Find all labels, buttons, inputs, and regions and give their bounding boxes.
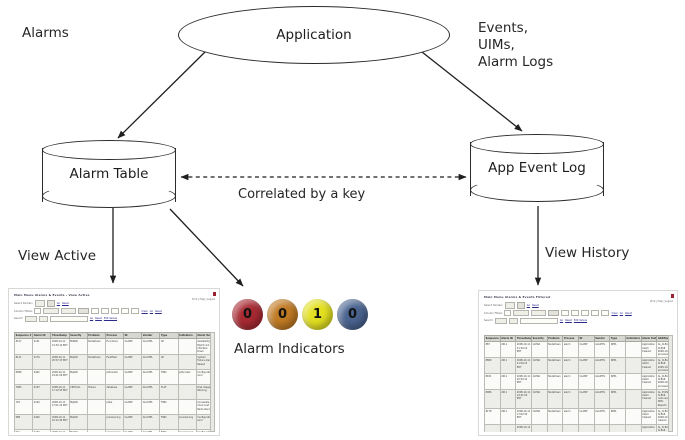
alarm-indicator-count: 0 xyxy=(278,307,287,322)
alarm-indicator-count: 0 xyxy=(348,307,357,322)
table-cell: AP xyxy=(160,339,178,355)
table-cell xyxy=(563,424,579,432)
filter-row[interactable]: SearchGoResetEdit Values xyxy=(484,318,673,323)
table-cell xyxy=(87,400,105,415)
table-cell: MINOR xyxy=(69,339,87,355)
table-cell: 7985 xyxy=(15,385,33,400)
table-cell: Application Alarm Cleared xyxy=(641,342,657,358)
screenshot-view-history[interactable]: Main Menu Alarms & Events Filtered Print… xyxy=(478,290,678,436)
table-cell: NodeDown xyxy=(547,389,563,408)
table-cell: 2008-10-11 20:52:41 EDT xyxy=(516,374,532,390)
filter-link[interactable]: Reset xyxy=(565,319,572,322)
label-view-history: View History xyxy=(545,245,629,262)
table-cell: provisioning xyxy=(105,415,123,430)
table-cell: 2008-10-11 21:09:15 EDT xyxy=(516,358,532,374)
filter-button[interactable] xyxy=(47,300,55,306)
table-cell xyxy=(625,358,641,374)
table-scrollbar[interactable] xyxy=(668,335,673,432)
table-cell: CLAMP xyxy=(578,358,594,374)
filter-input[interactable] xyxy=(520,318,558,324)
table-cell: FaultTask xyxy=(105,355,123,370)
table-cell: 8178 xyxy=(485,408,501,424)
node-app-event-log-label: App Event Log xyxy=(470,160,604,176)
filter-button[interactable] xyxy=(78,308,89,314)
thumb-data-table[interactable]: Sequence #Alarm IDTimestampSeverityProbl… xyxy=(14,332,215,432)
table-cell: ALCATEL xyxy=(594,374,610,390)
table-cell: ALCATEL xyxy=(142,430,160,432)
filter-input[interactable] xyxy=(25,316,37,322)
table-cell: REPL xyxy=(610,342,626,358)
table-cell: 8086 xyxy=(485,389,501,408)
table-cell: 4140 xyxy=(33,400,51,415)
filter-input[interactable] xyxy=(504,310,511,316)
table-cell: alarm xyxy=(563,389,579,408)
table-cell: provisioning xyxy=(178,415,196,430)
table-row[interactable]: 811141792008-10-11 20:57:23 EDTMAJORNode… xyxy=(15,355,215,370)
table-cell: FunctionA xyxy=(105,339,123,355)
cylinder-bottom xyxy=(42,184,176,208)
table-cell: ALCATEL xyxy=(142,415,160,430)
thumb-table-wrap[interactable]: Sequence #Alarm IDTimestampSeverityProbl… xyxy=(484,335,673,432)
filter-link[interactable]: Go xyxy=(150,310,153,313)
table-cell: CLAMP xyxy=(124,430,142,432)
filter-link[interactable]: Reset xyxy=(532,304,539,307)
table-cell: ALCATEL xyxy=(142,339,160,355)
filter-input[interactable] xyxy=(571,310,579,316)
table-cell: 588 xyxy=(15,415,33,430)
table-cell: CLAMP xyxy=(578,389,594,408)
table-cell xyxy=(625,408,641,424)
filter-input[interactable] xyxy=(495,318,507,324)
table-cell: 2011 xyxy=(500,374,516,390)
table-cell xyxy=(178,355,196,370)
filter-input[interactable] xyxy=(591,310,599,316)
table-cell: 4440 xyxy=(33,430,51,432)
table-cell: FIND xyxy=(160,400,178,415)
filter-label: Select Domain xyxy=(484,304,503,307)
table-cell: alarm xyxy=(563,408,579,424)
filter-input[interactable] xyxy=(34,308,41,314)
table-cell xyxy=(500,424,516,432)
table-cell: CLEAR xyxy=(531,358,547,374)
table-cell: NodeDown xyxy=(547,408,563,424)
filter-input[interactable] xyxy=(581,310,589,316)
table-cell: Failure xyxy=(87,385,105,400)
table-cell xyxy=(178,339,196,355)
filter-input[interactable] xyxy=(61,308,76,314)
filter-label: Search xyxy=(484,319,493,322)
table-cell: 2011 xyxy=(500,342,516,358)
filter-link[interactable]: Edit Values xyxy=(574,319,587,322)
table-cell: pdbrouter xyxy=(178,370,196,385)
table-cell: alarm xyxy=(563,358,579,374)
table-cell: 8880 xyxy=(485,358,501,374)
filter-button[interactable] xyxy=(548,310,559,316)
table-cell: CLAMP xyxy=(578,408,594,424)
filter-input[interactable] xyxy=(505,302,515,308)
alarm-indicator-count: 0 xyxy=(243,307,252,322)
arrow-alarm-table-to-indicators xyxy=(170,209,243,286)
table-cell: FLAT xyxy=(160,385,178,400)
thumb-data-table[interactable]: Sequence #Alarm IDTimestampSeverityProbl… xyxy=(484,335,673,432)
node-application: Application xyxy=(178,6,450,64)
table-cell: MAJOR xyxy=(69,370,87,385)
thumb-logo-icon xyxy=(213,292,216,296)
table-cell: 2008-10-11 xyxy=(516,424,532,432)
table-cell: alarm xyxy=(563,342,579,358)
table-cell: 2008-10-11 16:12:40 EDT xyxy=(51,415,69,430)
node-alarm-table: Alarm Table xyxy=(42,140,176,210)
table-cell: MAJOR xyxy=(69,355,87,370)
table-cell xyxy=(178,385,196,400)
filter-input[interactable] xyxy=(101,308,109,314)
table-cell: ALCATEL xyxy=(594,389,610,408)
table-cell: 2011 xyxy=(500,358,516,374)
table-row[interactable]: 88720112008-10-11 21:32:14 EDTCLEARNodeD… xyxy=(485,342,673,358)
table-cell: CLAMP xyxy=(124,385,142,400)
table-cell xyxy=(610,424,626,432)
filter-input[interactable] xyxy=(91,308,99,314)
table-cell: CLAMP xyxy=(124,400,142,415)
table-cell: 4440 xyxy=(33,415,51,430)
node-alarm-table-label: Alarm Table xyxy=(42,166,176,182)
table-cell: 2008-10-11 17:01:22 EDT xyxy=(51,400,69,415)
table-cell: 2008-10-11 17:02:30 EDT xyxy=(516,408,532,424)
filter-input[interactable] xyxy=(50,316,88,322)
table-cell: Application Alarm Cleared xyxy=(641,389,657,408)
table-cell xyxy=(625,389,641,408)
filter-row[interactable]: Column FiltersClearGoReset xyxy=(484,311,673,316)
filter-label: Column Filters xyxy=(14,310,32,313)
table-cell: 8181 xyxy=(485,374,501,390)
arrow-application-to-alarm-table xyxy=(118,52,205,138)
thumb-filter-bar[interactable]: Select DomainGoResetColumn FiltersClearG… xyxy=(484,303,673,326)
table-cell: provisioning xyxy=(105,430,123,432)
table-cell: AP xyxy=(160,355,178,370)
filter-row[interactable]: SearchGoResetEdit Values xyxy=(14,316,215,321)
filter-input[interactable] xyxy=(531,310,546,316)
table-cell: REPL xyxy=(610,408,626,424)
table-cell: MAJOR xyxy=(69,400,87,415)
filter-input[interactable] xyxy=(111,308,119,314)
table-cell: 745 xyxy=(15,400,33,415)
filter-label: Select Domain xyxy=(14,302,33,305)
table-cell: ALCATEL xyxy=(594,358,610,374)
table-cell xyxy=(87,370,105,385)
filter-label: Search xyxy=(14,317,23,320)
table-cell: alarm xyxy=(563,374,579,390)
filter-link[interactable]: Edit Values xyxy=(104,317,117,320)
table-cell: FIND xyxy=(160,370,178,385)
table-cell xyxy=(578,424,594,432)
table-cell: REPL xyxy=(610,389,626,408)
cylinder-top xyxy=(42,140,176,160)
table-cell: 4153 xyxy=(33,385,51,400)
alarm-indicator-count: 1 xyxy=(313,307,322,322)
cylinder-top xyxy=(470,134,604,154)
table-cell: 2008-10-11 21:32:14 EDT xyxy=(516,342,532,358)
thumb-logo-icon xyxy=(671,294,674,298)
table-row[interactable]: 817820112008-10-11 17:02:30 EDTCLEARNode… xyxy=(485,408,673,424)
table-cell: CLEAR xyxy=(531,408,547,424)
alarm-indicator-minor[interactable]: 1 xyxy=(302,299,333,330)
label-correlated-by-a-key: Correlated by a key xyxy=(238,186,365,203)
table-row[interactable]: 808620112008-10-11 19:41:09 EDTCLEARNode… xyxy=(485,389,673,408)
filter-label: Column Filters xyxy=(484,312,502,315)
table-cell xyxy=(178,400,196,415)
table-row[interactable]: 74541402008-10-11 17:01:22 EDTMAJORpdbaC… xyxy=(15,400,215,415)
table-row[interactable]: 2008-10-11ApplicationAL_CLEAR CLEAR 2008… xyxy=(485,424,673,432)
table-cell: FIND xyxy=(160,430,178,432)
filter-link[interactable]: Clear xyxy=(141,310,147,313)
table-cell: CLAMP xyxy=(124,355,142,370)
table-cell: Application xyxy=(641,424,657,432)
table-cell xyxy=(625,342,641,358)
table-cell xyxy=(531,424,547,432)
filter-link[interactable]: Reset xyxy=(62,302,69,305)
table-cell: 2008-10-11 19:41:09 EDT xyxy=(516,389,532,408)
table-cell: CLAMP xyxy=(578,374,594,390)
filter-input[interactable] xyxy=(35,300,45,306)
table-cell: ALCATEL xyxy=(142,370,160,385)
table-row[interactable]: 888020112008-10-11 21:09:15 EDTCLEARNode… xyxy=(485,358,673,374)
table-cell: ALCATEL xyxy=(594,408,610,424)
table-cell xyxy=(625,374,641,390)
table-cell: MAJOR xyxy=(69,415,87,430)
label-view-active: View Active xyxy=(18,248,96,265)
label-alarms: Alarms xyxy=(22,25,69,42)
thumb-filter-bar[interactable]: Select DomainGoResetColumn FiltersClearG… xyxy=(14,301,215,324)
filter-input[interactable] xyxy=(43,308,59,314)
table-cell: 2008-10-11 17:12:55 EDT xyxy=(51,385,69,400)
table-cell: Application Alarm Cleared xyxy=(641,374,657,390)
node-application-label: Application xyxy=(276,27,351,43)
filter-link[interactable]: Reset xyxy=(155,310,162,313)
table-cell: 571 xyxy=(15,430,33,432)
thumb-table-wrap[interactable]: Sequence #Alarm IDTimestampSeverityProbl… xyxy=(14,332,215,432)
table-cell: ALCATEL xyxy=(142,385,160,400)
table-row[interactable]: 58844402008-10-11 16:12:40 EDTMAJORprovi… xyxy=(15,415,215,430)
table-cell: ALCATEL xyxy=(142,355,160,370)
label-events-uims-alarm-logs: Events, UIMs, Alarm Logs xyxy=(478,20,553,71)
table-cell: 2011 xyxy=(500,408,516,424)
filter-link[interactable]: Go xyxy=(560,319,563,322)
table-cell: 4179 xyxy=(33,355,51,370)
table-cell: FIND xyxy=(160,415,178,430)
table-cell: 8111 xyxy=(15,355,33,370)
table-cell: REPL xyxy=(610,358,626,374)
table-cell: CLAMP xyxy=(124,339,142,355)
filter-link[interactable]: Reset xyxy=(625,312,632,315)
node-app-event-log: App Event Log xyxy=(470,134,604,204)
table-cell: 8086 xyxy=(15,370,33,385)
table-cell xyxy=(87,415,105,430)
table-cell xyxy=(547,424,563,432)
table-cell: Application Alarm Cleared xyxy=(641,358,657,374)
table-cell: ALCATEL xyxy=(594,342,610,358)
filter-input[interactable] xyxy=(509,318,518,324)
table-cell: 2011 xyxy=(500,389,516,408)
table-cell: ALCATEL xyxy=(142,400,160,415)
table-row[interactable]: 812741312008-10-11 21:32:14 EDTMINORNode… xyxy=(15,339,215,355)
filter-link[interactable]: Go xyxy=(90,317,93,320)
table-cell xyxy=(594,424,610,432)
filter-input[interactable] xyxy=(39,316,48,322)
table-cell: provisioning xyxy=(178,430,196,432)
table-cell: NodeDown xyxy=(547,374,563,390)
table-cell: pdbrouter xyxy=(105,370,123,385)
table-cell xyxy=(87,430,105,432)
filter-input[interactable] xyxy=(561,310,569,316)
table-cell: CRITICAL xyxy=(69,385,87,400)
table-cell: CLEAR xyxy=(531,374,547,390)
table-row[interactable]: 818120112008-10-11 20:52:41 EDTCLEARNode… xyxy=(485,374,673,390)
table-row[interactable]: 57144402008-10-11 11:29:08 EDTMAJORprovi… xyxy=(15,430,215,432)
thumb-title: Main Menu Alarms & Events - View Active xyxy=(14,293,90,297)
table-cell: CLAMP xyxy=(124,415,142,430)
table-cell: MAJOR xyxy=(69,430,87,432)
table-cell xyxy=(485,424,501,432)
table-cell: NodeDown xyxy=(87,355,105,370)
filter-input[interactable] xyxy=(513,310,529,316)
alarm-indicator-group: 0010 xyxy=(232,299,368,330)
alarm-indicator-major[interactable]: 0 xyxy=(267,299,298,330)
table-cell: 2008-10-11 21:32:14 EDT xyxy=(51,339,69,355)
table-row[interactable]: 808644022008-10-11 19:41:09 EDTMAJORpdbr… xyxy=(15,370,215,385)
table-cell: REPL xyxy=(610,374,626,390)
filter-row[interactable]: Select DomainGoReset xyxy=(14,301,215,306)
filter-row[interactable]: Column FiltersClearGoReset xyxy=(14,309,215,314)
filter-link[interactable]: Go xyxy=(57,302,60,305)
table-cell: pdba xyxy=(105,400,123,415)
filter-link[interactable]: Go xyxy=(620,312,623,315)
filter-input[interactable] xyxy=(131,308,139,314)
table-cell: 2008-10-11 11:29:08 EDT xyxy=(51,430,69,432)
table-cell: 4131 xyxy=(33,339,51,355)
filter-link[interactable]: Reset xyxy=(95,317,102,320)
table-cell: NodeDown xyxy=(547,358,563,374)
alarm-indicator-critical[interactable]: 0 xyxy=(232,299,263,330)
filter-input[interactable] xyxy=(121,308,129,314)
cylinder-bottom xyxy=(470,178,604,202)
table-cell xyxy=(625,424,641,432)
filter-input[interactable] xyxy=(601,310,609,316)
filter-button[interactable] xyxy=(517,302,525,308)
table-cell: 2008-10-11 19:41:09 EDT xyxy=(51,370,69,385)
filter-link[interactable]: Go xyxy=(527,304,530,307)
table-cell: 8127 xyxy=(15,339,33,355)
table-scrollbar[interactable] xyxy=(210,332,215,432)
label-alarm-indicators: Alarm Indicators xyxy=(234,341,345,358)
table-cell: NodeDown xyxy=(87,339,105,355)
screenshot-view-active[interactable]: Main Menu Alarms & Events - View Active … xyxy=(8,288,220,436)
table-cell: 887 xyxy=(485,342,501,358)
table-cell: CLEAR xyxy=(531,389,547,408)
table-cell: 4402 xyxy=(33,370,51,385)
table-cell: database xyxy=(105,385,123,400)
filter-link[interactable]: Clear xyxy=(611,312,617,315)
table-cell: CLAMP xyxy=(124,370,142,385)
diagram-canvas: App Event Log (dashed, double headed) --… xyxy=(0,0,685,440)
table-row[interactable]: 798541532008-10-11 17:12:55 EDTCRITICALF… xyxy=(15,385,215,400)
table-cell: CLAMP xyxy=(578,342,594,358)
alarm-indicator-warning[interactable]: 0 xyxy=(337,299,368,330)
table-cell: 2008-10-11 20:57:23 EDT xyxy=(51,355,69,370)
table-cell: CLEAR xyxy=(531,342,547,358)
table-cell: NodeDown xyxy=(547,342,563,358)
table-cell: Application Alarm Cleared xyxy=(641,408,657,424)
thumb-title: Main Menu Alarms & Events Filtered xyxy=(484,295,550,299)
filter-row[interactable]: Select DomainGoReset xyxy=(484,303,673,308)
